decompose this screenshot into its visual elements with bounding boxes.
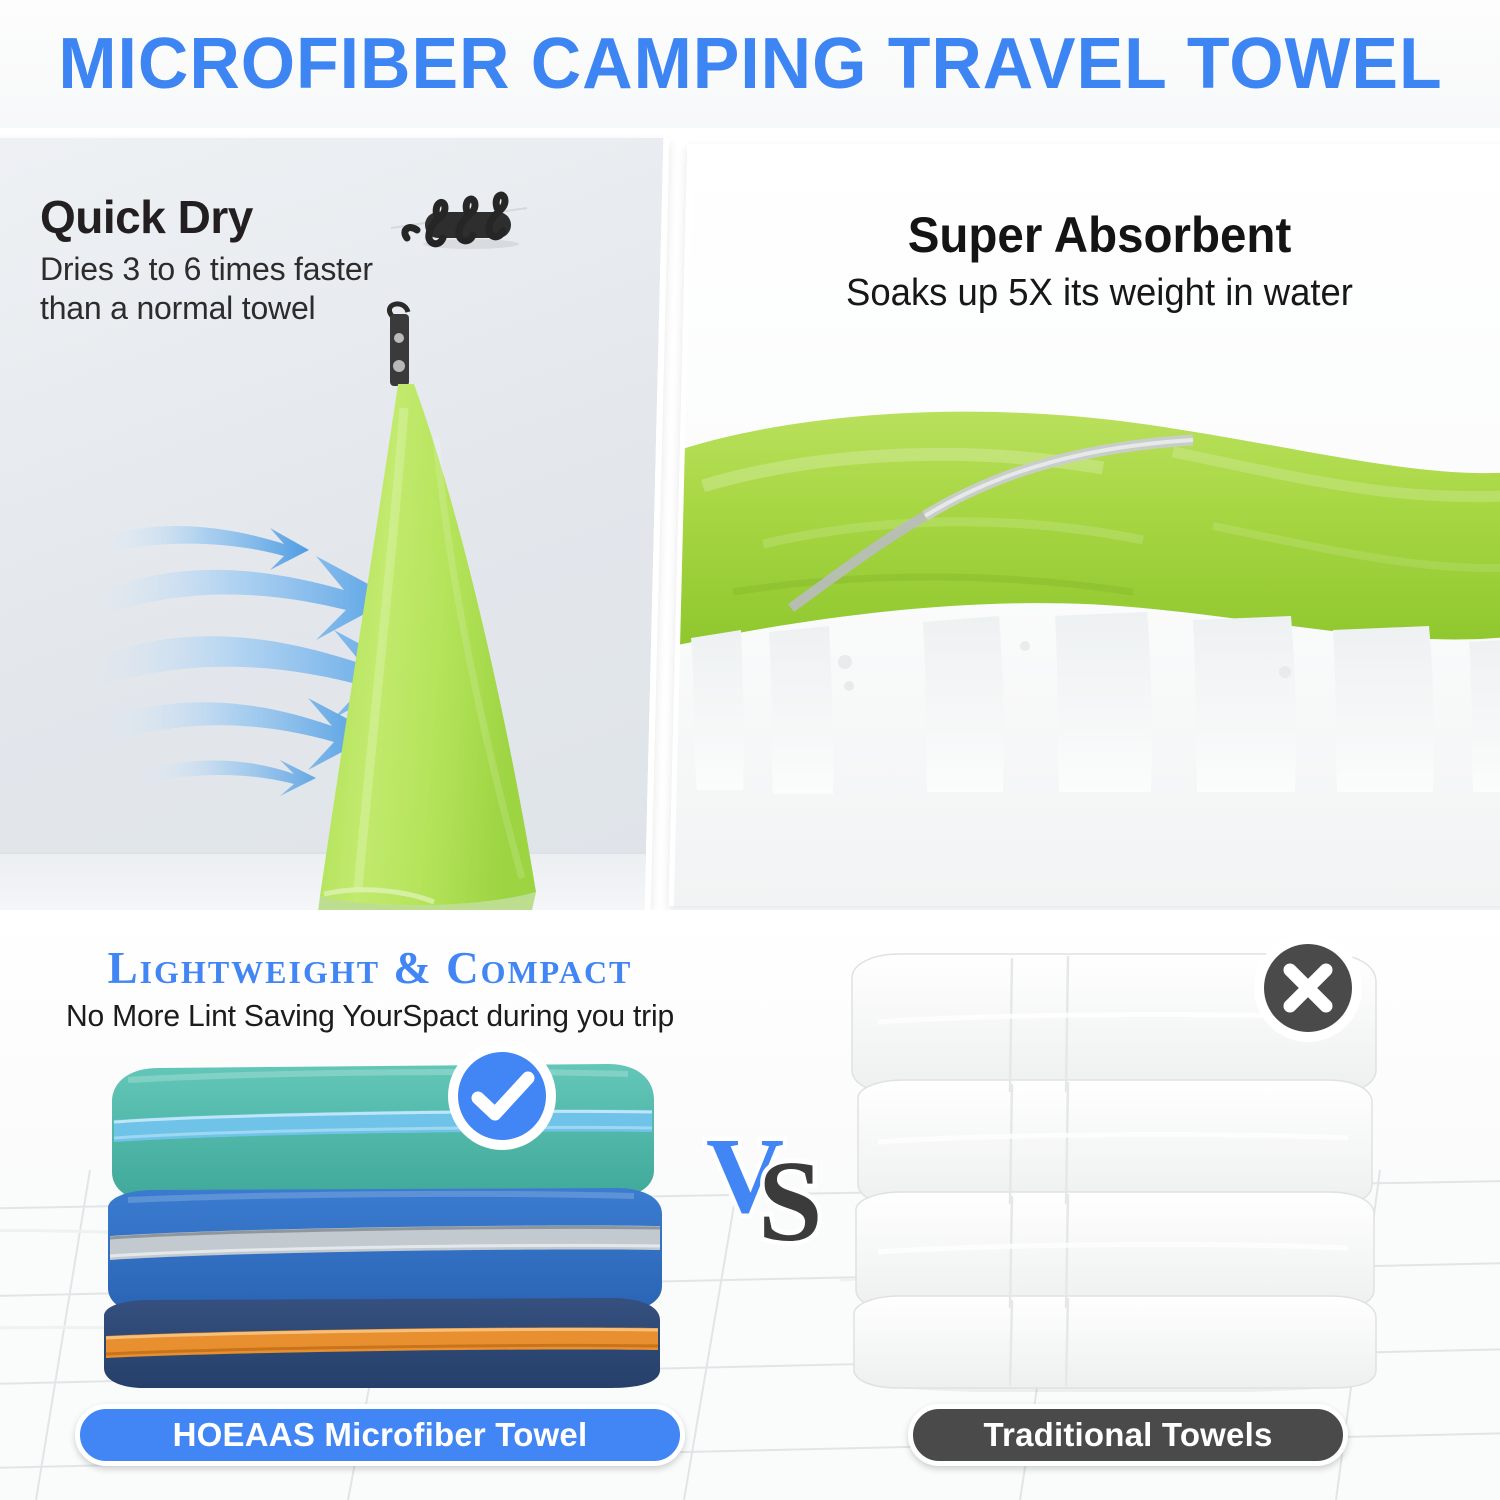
microfiber-towel-stack	[88, 1058, 678, 1388]
super-absorbent-subtitle: Soaks up 5X its weight in water	[700, 272, 1500, 315]
super-absorbent-heading: Super Absorbent	[704, 206, 1495, 264]
vs-badge: V S	[700, 1108, 850, 1258]
page-title-bar: MICROFIBER CAMPING TRAVEL TOWEL	[0, 0, 1500, 128]
super-absorbent-panel: Super Absorbent Soaks up 5X its weight i…	[669, 144, 1500, 906]
traditional-label-text: Traditional Towels	[983, 1416, 1272, 1454]
microfiber-label-text: HOEAAS Microfiber Towel	[173, 1416, 588, 1454]
check-badge	[442, 1036, 562, 1156]
cross-badge	[1248, 928, 1368, 1048]
microfiber-label-pill[interactable]: HOEAAS Microfiber Towel	[75, 1404, 685, 1466]
quick-dry-subtitle-line2: than a normal towel	[40, 289, 410, 328]
page-title: MICROFIBER CAMPING TRAVEL TOWEL	[58, 23, 1442, 105]
comparison-heading: Lightweight & Compact	[0, 942, 740, 994]
feature-panels-row: Quick Dry Dries 3 to 6 times faster than…	[0, 128, 1500, 910]
quick-dry-panel: Quick Dry Dries 3 to 6 times faster than…	[0, 138, 669, 910]
super-absorbent-text-block: Super Absorbent Soaks up 5X its weight i…	[683, 206, 1500, 315]
quick-dry-text-block: Quick Dry Dries 3 to 6 times faster than…	[40, 190, 410, 328]
traditional-label-pill[interactable]: Traditional Towels	[908, 1404, 1348, 1466]
comparison-text-block: Lightweight & Compact No More Lint Savin…	[0, 942, 740, 1034]
wet-green-towel-with-drips	[673, 394, 1500, 824]
comparison-subtitle: No More Lint Saving YourSpact during you…	[11, 998, 729, 1034]
quick-dry-heading: Quick Dry	[40, 190, 410, 244]
vs-letter-s: S	[758, 1138, 823, 1258]
quick-dry-subtitle-line1: Dries 3 to 6 times faster	[40, 250, 410, 289]
hanging-green-towel	[284, 298, 584, 910]
